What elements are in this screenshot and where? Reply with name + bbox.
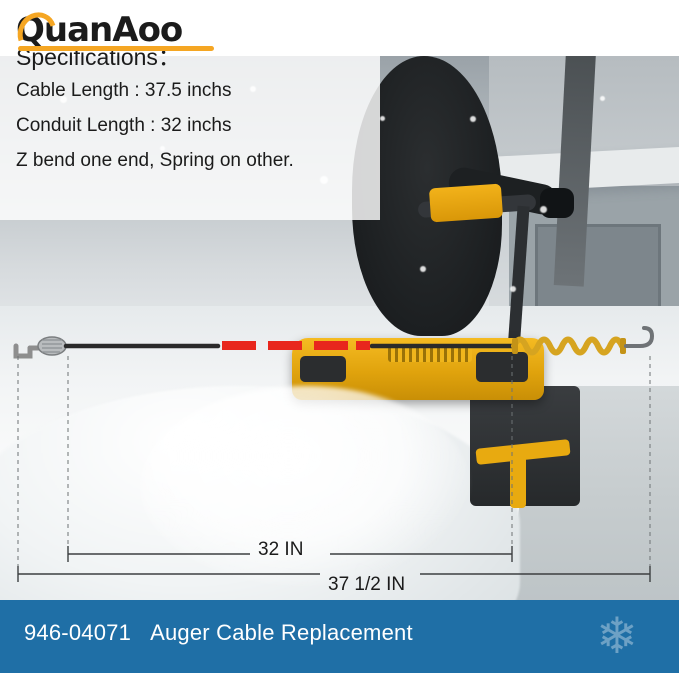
footer-product-name: Auger Cable Replacement	[150, 620, 413, 645]
product-infographic-page: QuanAoo	[0, 0, 679, 673]
dimension-annotations: 32 IN 37 1/2 IN	[0, 56, 679, 600]
footer-text: 946-04071 Auger Cable Replacement	[24, 620, 413, 646]
product-footer-bar: 946-04071 Auger Cable Replacement ❄	[0, 600, 679, 673]
dimension-label-32in: 32 IN	[258, 539, 303, 561]
brand-logo-text: QuanAoo	[16, 13, 182, 47]
footer-sku: 946-04071	[24, 620, 131, 645]
dimension-label-37half-in: 37 1/2 IN	[328, 574, 405, 596]
logo-underline	[18, 46, 214, 51]
brand-logo: QuanAoo	[16, 8, 182, 52]
snowflake-icon: ❄	[591, 610, 643, 662]
dimension-extension-lines	[18, 356, 650, 576]
